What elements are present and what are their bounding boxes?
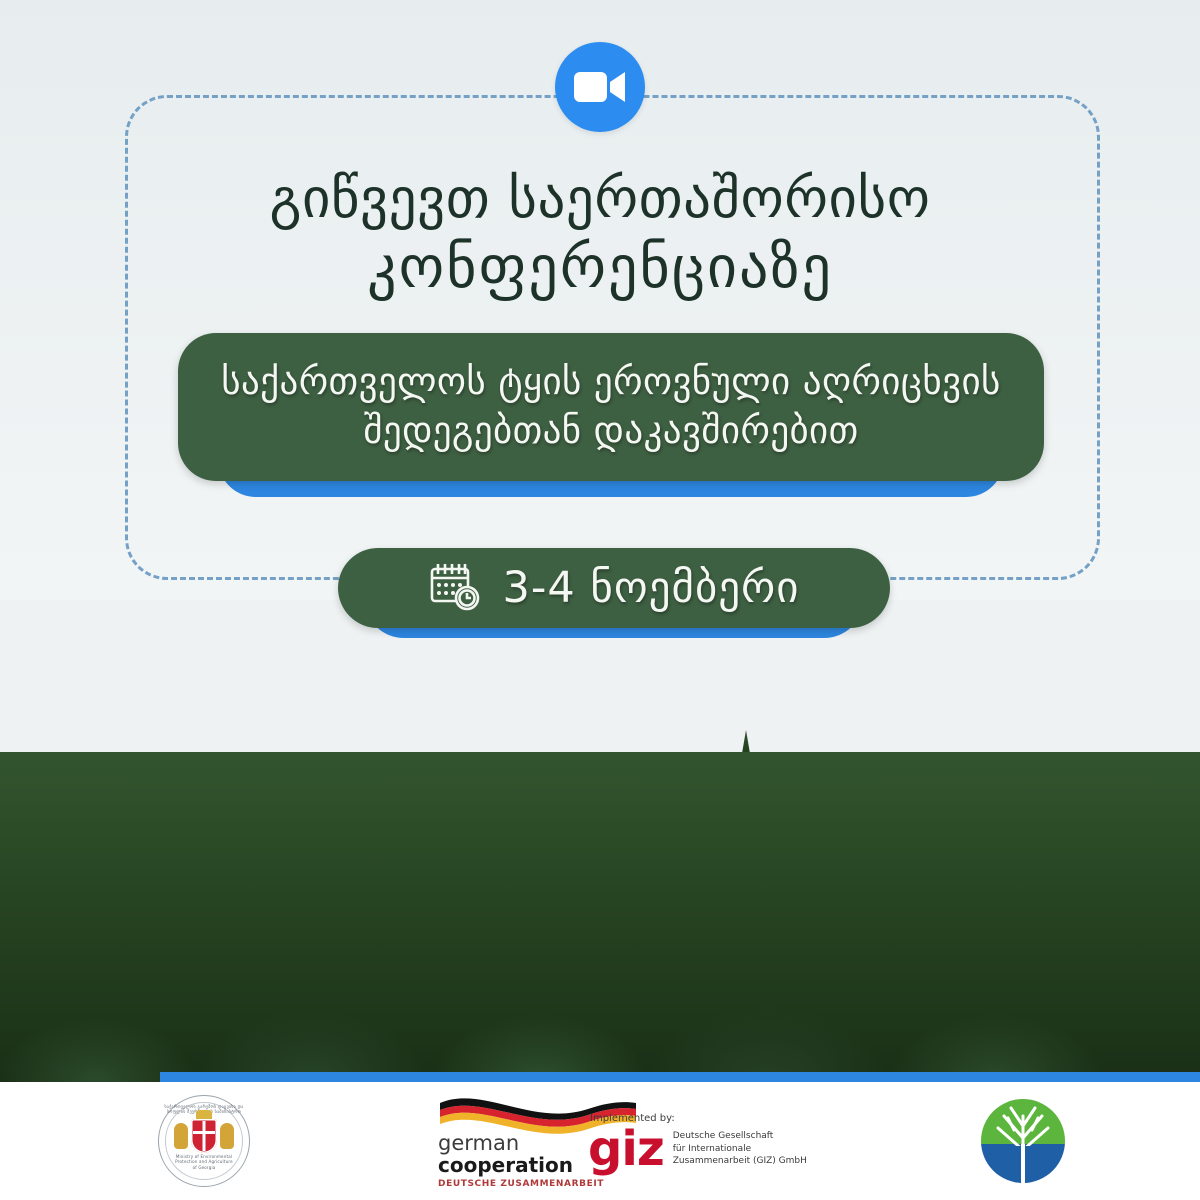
ministry-seal-logo: საქართველოს გარემოს დაცვისა და სოფლის მე… bbox=[158, 1082, 250, 1200]
poster: გიწვევთ საერთაშორისო კონფერენციაზე საქარ… bbox=[0, 0, 1200, 1200]
seal-crown bbox=[196, 1110, 212, 1119]
calendar-clock-icon bbox=[428, 560, 480, 616]
ministry-seal: საქართველოს გარემოს დაცვისა და სოფლის მე… bbox=[158, 1095, 250, 1187]
subtitle-banner-wrap: საქართველოს ტყის ეროვნული აღრიცხვის შედე… bbox=[178, 333, 1044, 481]
giz-row: giz Deutsche Gesellschaft für Internatio… bbox=[588, 1129, 807, 1170]
seal-cross-vertical bbox=[203, 1121, 206, 1151]
seal-lion-right bbox=[220, 1123, 234, 1149]
banner-line-2: შედეგებთან დაკავშირებით bbox=[221, 407, 1001, 456]
giz-logo: Implemented by: giz Deutsche Gesellschaf… bbox=[588, 1082, 828, 1200]
date-pill: 3-4 ნოემბერი bbox=[338, 548, 890, 628]
subtitle-banner: საქართველოს ტყის ეროვნული აღრიცხვის შედე… bbox=[178, 333, 1044, 481]
forestry-agency-logo bbox=[978, 1082, 1068, 1200]
banner-text: საქართველოს ტყის ეროვნული აღრიცხვის შედე… bbox=[195, 344, 1027, 470]
banner-line-1: საქართველოს ტყის ეროვნული აღრიცხვის bbox=[221, 358, 1001, 407]
tree-circle-icon bbox=[978, 1096, 1068, 1186]
title-line-2: კონფერენციაზე bbox=[0, 232, 1200, 303]
forest-canopy-mass bbox=[0, 752, 1200, 1082]
footer: საქართველოს გარემოს დაცვისა და სოფლის მე… bbox=[0, 1082, 1200, 1200]
seal-micro-text: Ministry of Environmental Protection and… bbox=[158, 1154, 250, 1170]
logo-row: საქართველოს გარემოს დაცვისა და სოფლის მე… bbox=[0, 1082, 1200, 1200]
seal-cross-horizontal bbox=[193, 1131, 215, 1134]
page-title: გიწვევთ საერთაშორისო კონფერენციაზე bbox=[0, 165, 1200, 303]
giz-wordmark: giz bbox=[588, 1129, 664, 1170]
zoom-video-icon bbox=[555, 42, 645, 132]
date-text: 3-4 ნოემბერი bbox=[502, 563, 799, 613]
forest-photo bbox=[0, 600, 1200, 1082]
giz-description: Deutsche Gesellschaft für Internationale… bbox=[673, 1130, 807, 1168]
seal-lion-left bbox=[174, 1123, 188, 1149]
date-pill-wrap: 3-4 ნოემბერი bbox=[338, 548, 890, 628]
title-line-1: გიწვევთ საერთაშორისო bbox=[269, 166, 930, 230]
